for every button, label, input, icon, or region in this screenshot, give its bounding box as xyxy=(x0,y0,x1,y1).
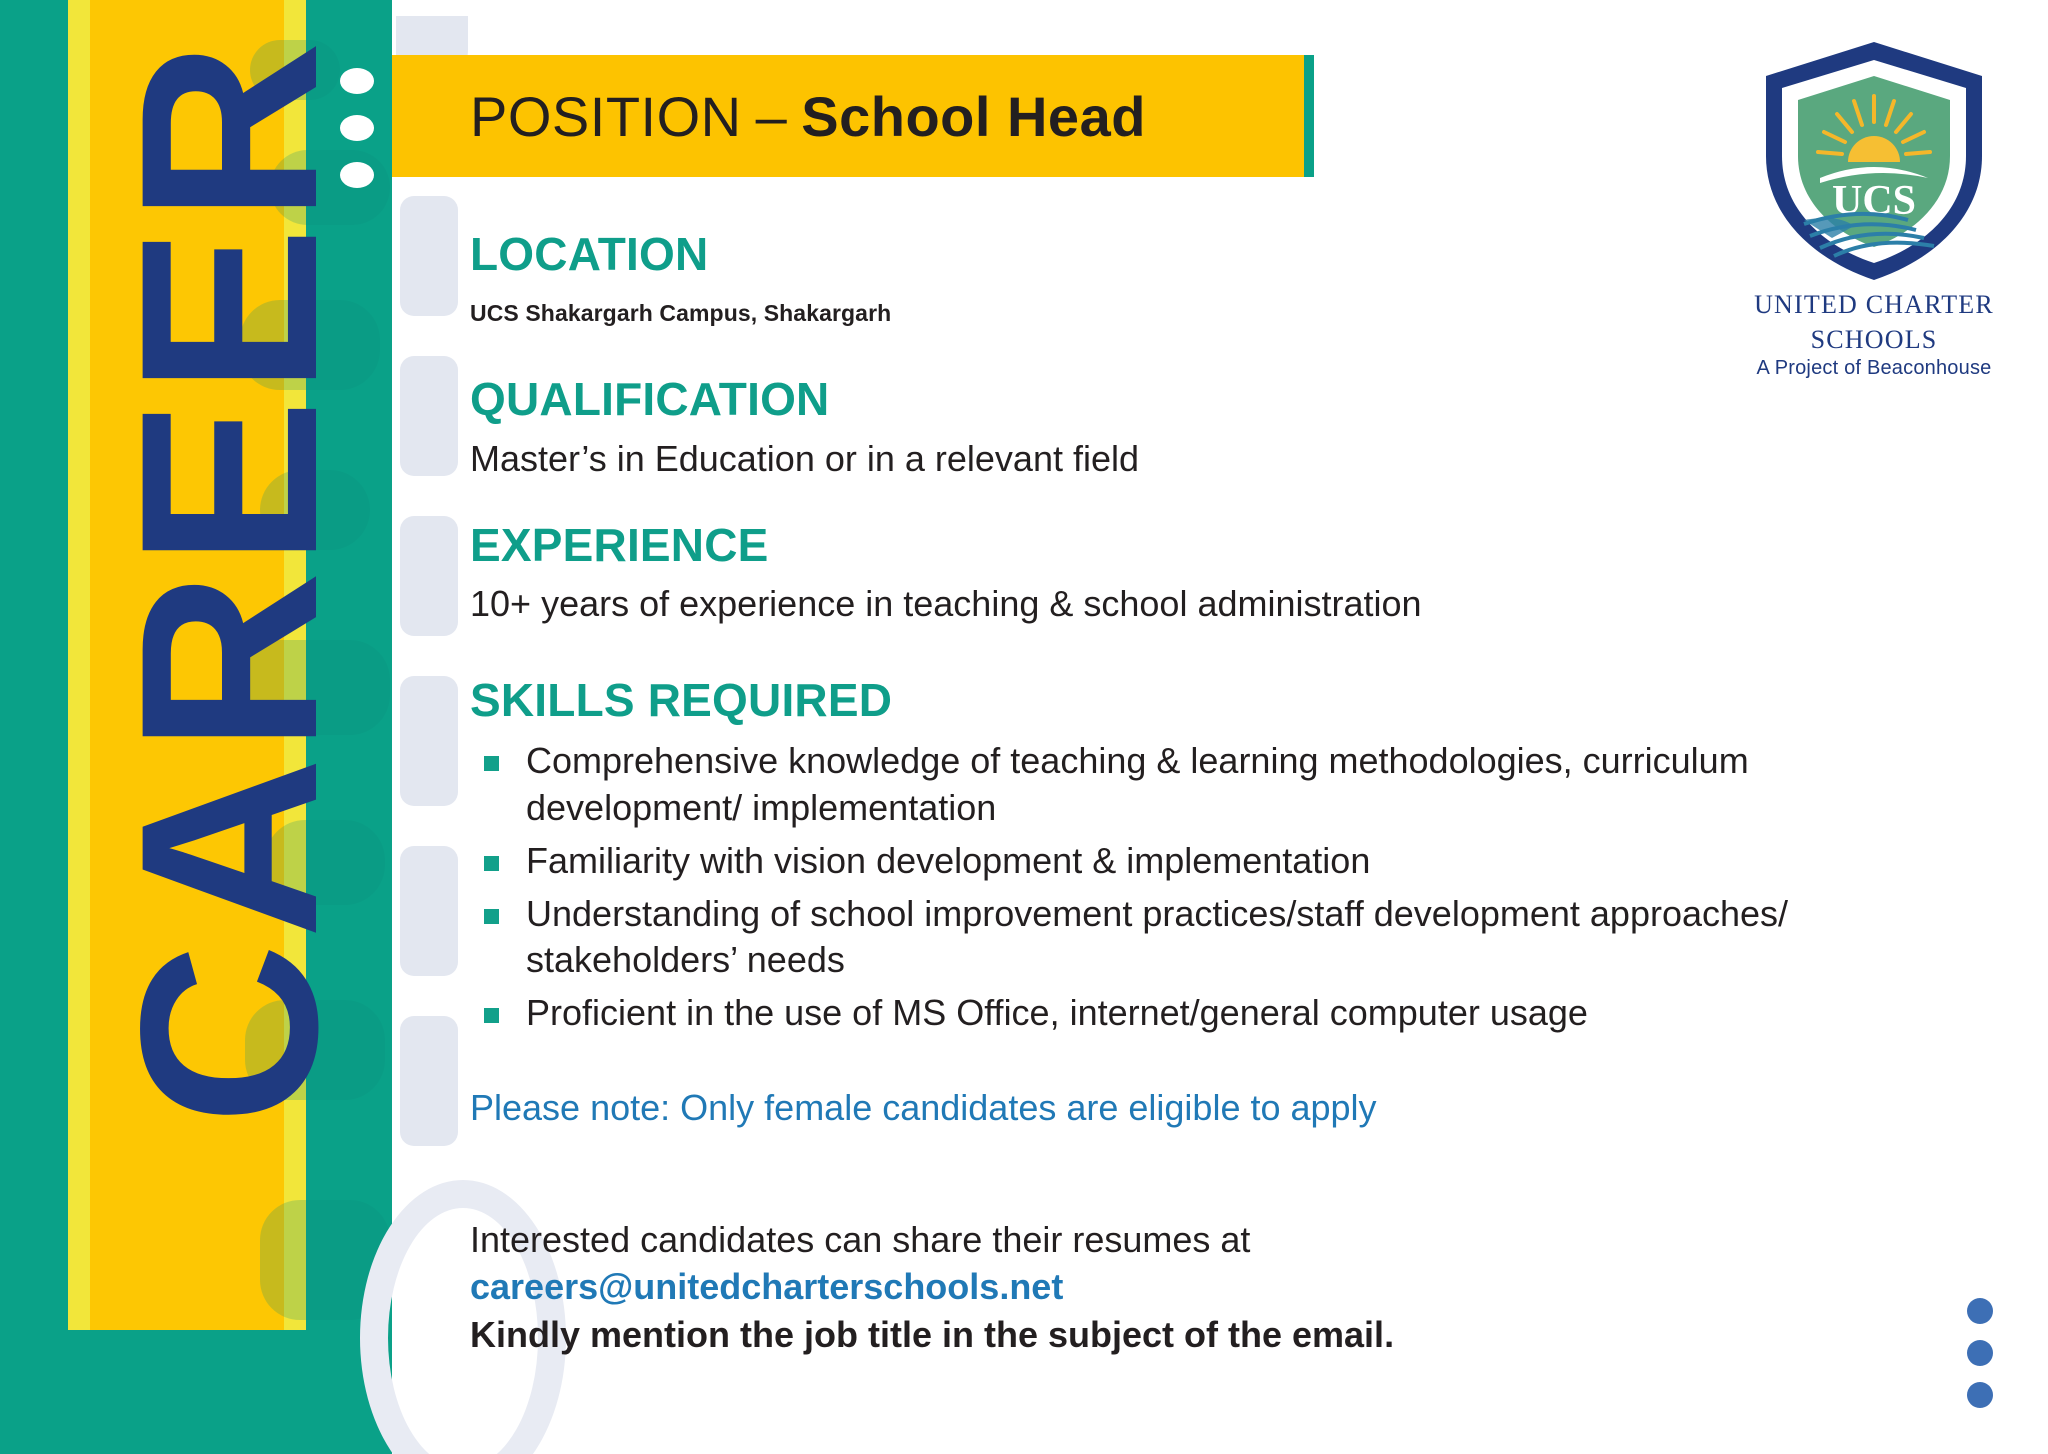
skill-text: Comprehensive knowledge of teaching & le… xyxy=(526,740,1749,828)
decor-grey-3 xyxy=(400,356,458,476)
skills-list: Comprehensive knowledge of teaching & le… xyxy=(470,738,1810,1037)
decorative-blue-dot-1 xyxy=(1967,1298,1993,1324)
list-item: Understanding of school improvement prac… xyxy=(470,891,1810,985)
bullet-square-icon xyxy=(484,856,499,871)
qualification-text: Master’s in Education or in a relevant f… xyxy=(470,436,1810,481)
position-label: POSITION xyxy=(470,85,742,148)
decor-grey-7 xyxy=(400,1016,458,1146)
bullet-square-icon xyxy=(484,909,499,924)
qualification-heading: QUALIFICATION xyxy=(470,375,1810,423)
skill-text: Proficient in the use of MS Office, inte… xyxy=(526,992,1588,1033)
list-item: Comprehensive knowledge of teaching & le… xyxy=(470,738,1810,832)
contact-email-link[interactable]: careers@unitedcharterschools.net xyxy=(470,1263,1810,1311)
decorative-dot-2 xyxy=(340,115,374,141)
decorative-blue-dot-2 xyxy=(1967,1340,1993,1366)
footer-subject-note: Kindly mention the job title in the subj… xyxy=(470,1311,1810,1359)
sidebar-band: CAREER xyxy=(0,0,392,1454)
career-vertical-title: CAREER xyxy=(104,0,356,1281)
experience-heading: EXPERIENCE xyxy=(470,521,1810,569)
list-item: Familiarity with vision development & im… xyxy=(470,838,1810,885)
skills-heading: SKILLS REQUIRED xyxy=(470,676,1810,724)
decorative-dot-1 xyxy=(340,68,374,94)
experience-text: 10+ years of experience in teaching & sc… xyxy=(470,581,1810,626)
eligibility-note: Please note: Only female candidates are … xyxy=(470,1085,1810,1130)
position-dash: – xyxy=(742,85,802,148)
career-poster: CAREER POSITION–School Head xyxy=(0,0,2048,1454)
position-header-end-cap xyxy=(1304,55,1314,177)
bullet-square-icon xyxy=(484,756,499,771)
decorative-dot-3 xyxy=(340,162,374,188)
sidebar-yellow-stripe-edge-left xyxy=(68,0,90,1330)
footer-block: Interested candidates can share their re… xyxy=(470,1216,1810,1359)
list-item: Proficient in the use of MS Office, inte… xyxy=(470,990,1810,1037)
decorative-blue-dot-3 xyxy=(1967,1382,1993,1408)
decor-grey-4 xyxy=(400,516,458,636)
position-title: School Head xyxy=(801,85,1146,148)
footer-instruction: Interested candidates can share their re… xyxy=(470,1216,1810,1264)
skill-text: Familiarity with vision development & im… xyxy=(526,840,1370,881)
position-header-text: POSITION–School Head xyxy=(470,84,1146,149)
job-details: LOCATION UCS Shakargarh Campus, Shakarga… xyxy=(470,230,1810,1359)
decor-grey-2 xyxy=(400,196,458,316)
location-text: UCS Shakargarh Campus, Shakargarh xyxy=(470,300,1810,327)
decor-grey-6 xyxy=(400,846,458,976)
location-heading: LOCATION xyxy=(470,230,1810,278)
skill-text: Understanding of school improvement prac… xyxy=(526,893,1788,981)
bullet-square-icon xyxy=(484,1008,499,1023)
decor-grey-5 xyxy=(400,676,458,806)
